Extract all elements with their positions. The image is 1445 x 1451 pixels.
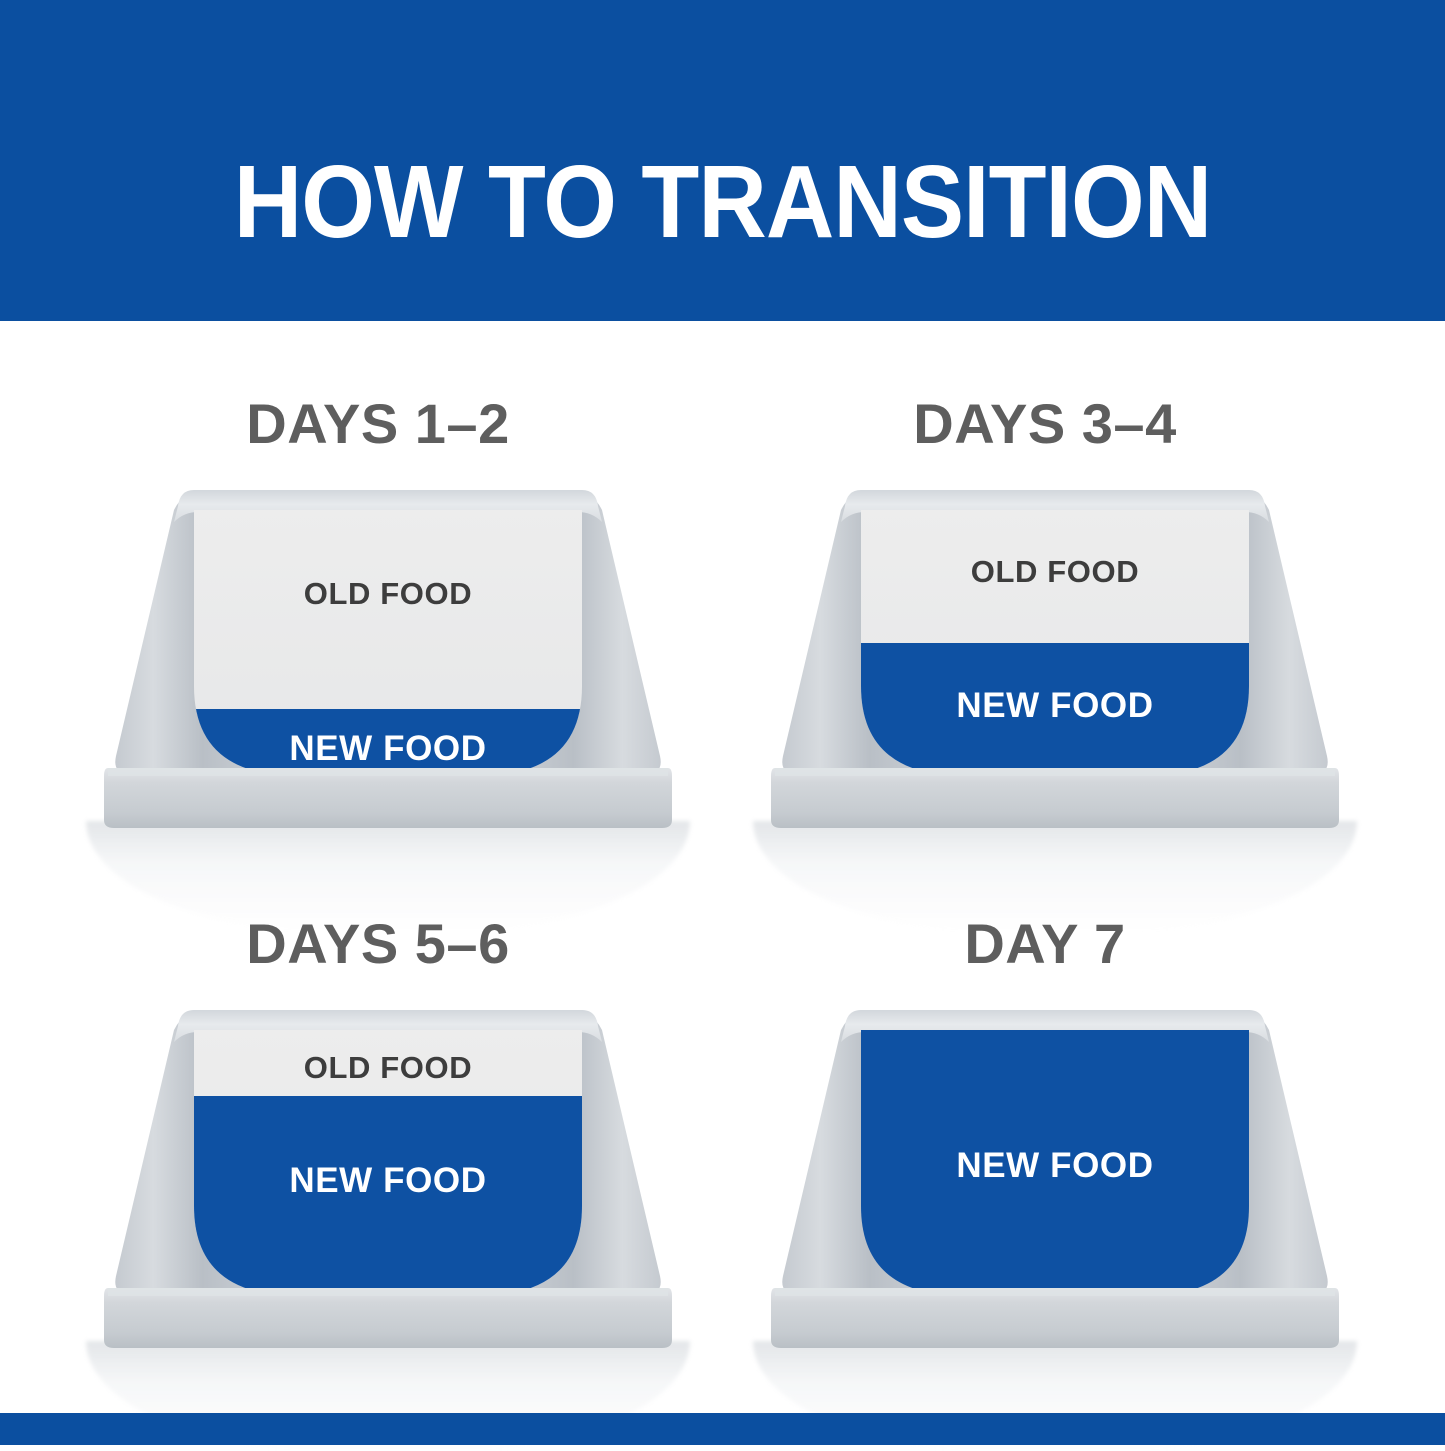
pet-food-bowl-icon: OLD FOOD NEW FOOD bbox=[765, 476, 1345, 836]
step-panel-day-7: DAY 7 bbox=[715, 911, 1375, 1431]
pet-food-bowl-icon: OLD FOOD NEW FOOD bbox=[98, 476, 678, 836]
bowls-grid: DAYS 1–2 bbox=[0, 321, 1445, 1413]
footer-strip bbox=[0, 1413, 1445, 1445]
new-food-fill bbox=[855, 1026, 1255, 1304]
new-food-fill bbox=[855, 643, 1255, 784]
step-panel-days-1-2: DAYS 1–2 bbox=[48, 391, 708, 911]
pet-food-bowl-icon: OLD FOOD NEW FOOD bbox=[98, 996, 678, 1356]
day-label: DAY 7 bbox=[715, 911, 1375, 976]
new-food-fill bbox=[188, 1096, 588, 1304]
pet-food-bowl-icon: NEW FOOD bbox=[765, 996, 1345, 1356]
page-title-line-1: HOW TO TRANSITION bbox=[58, 154, 1387, 250]
day-label: DAYS 1–2 bbox=[48, 391, 708, 456]
infographic-page: HOW TO TRANSITION YOUR PET’S FOOD DAYS 1… bbox=[0, 0, 1445, 1445]
step-panel-days-3-4: DAYS 3–4 bbox=[715, 391, 1375, 911]
day-label: DAYS 5–6 bbox=[48, 911, 708, 976]
header-banner: HOW TO TRANSITION YOUR PET’S FOOD bbox=[0, 0, 1445, 321]
day-label: DAYS 3–4 bbox=[715, 391, 1375, 456]
step-panel-days-5-6: DAYS 5–6 bbox=[48, 911, 708, 1431]
